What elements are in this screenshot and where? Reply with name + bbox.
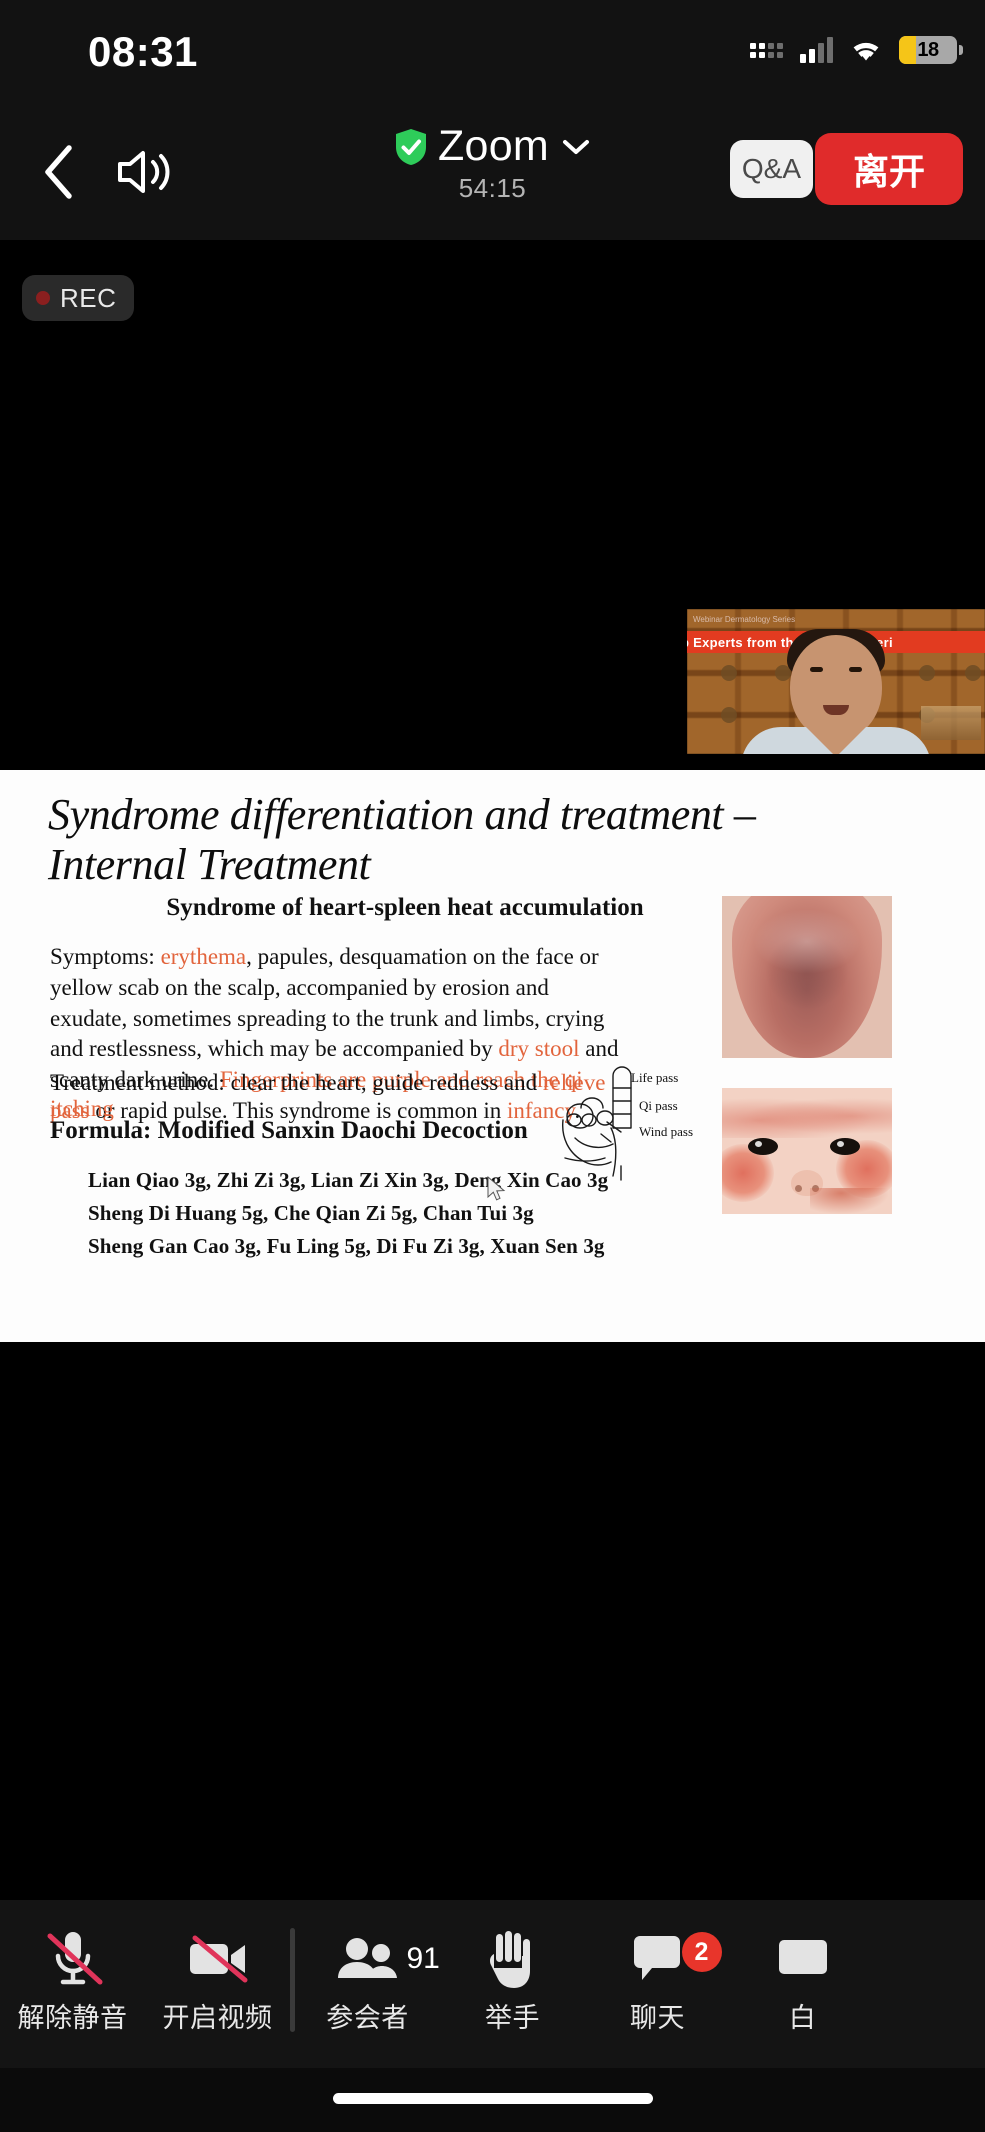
status-bar-clock: 08:31 [88,28,198,76]
status-bar: 08:31 18 [0,0,985,100]
participants-icon [335,1936,401,1982]
participants-button[interactable]: 91 参会者 [295,1900,440,2068]
video-off-icon [187,1936,249,1982]
shared-slide[interactable]: Syndrome differentiation and treatment –… [0,770,985,1342]
formula-title: Formula: Modified Sanxin Daochi Decoctio… [50,1117,528,1145]
speaker-on-icon [116,147,178,197]
pass-label: Wind pass [639,1124,693,1140]
whiteboard-button[interactable]: 白 [730,1900,875,2068]
home-indicator[interactable] [333,2093,653,2104]
body-text: Symptoms: [50,944,161,969]
speaker-head [790,635,882,741]
raised-hand-icon [486,1930,540,1988]
participants-label: 参会者 [326,1996,409,2035]
whiteboard-icon [775,1936,831,1982]
qa-button[interactable]: Q&A [730,140,813,198]
chevron-left-icon [41,144,75,200]
cellular-signal-icon [750,43,783,58]
highlighted-text: erythema [161,944,247,969]
unmute-button[interactable]: 解除静音 [0,1900,145,2068]
meeting-title: Zoom [438,122,549,171]
video-stage[interactable]: REC Webinar Dermatology Series p Experts… [0,240,985,1900]
chevron-down-icon[interactable] [561,137,591,157]
wifi-icon [849,37,883,63]
raise-hand-label: 举手 [485,1996,540,2035]
record-dot-icon [36,291,50,305]
slide-title: Syndrome differentiation and treatment –… [48,790,838,890]
whiteboard-label: 白 [789,1996,817,2035]
start-video-button[interactable]: 开启视频 [145,1900,290,2068]
leave-button-label: 离开 [853,143,925,195]
cellular-bars-icon [800,37,833,63]
speaker-button[interactable] [112,144,182,200]
chat-label: 聊天 [630,1996,685,2035]
pass-label: Qi pass [639,1098,678,1114]
self-view-banner-subtext: Webinar Dermatology Series [693,615,795,624]
speaker-eye-right [849,667,862,672]
raise-hand-button[interactable]: 举手 [440,1900,585,2068]
microphone-off-icon [48,1928,98,1990]
meeting-header: Zoom 54:15 Q&A 离开 [0,100,985,240]
speaker-eye-left [810,667,823,672]
verified-shield-icon [394,128,428,166]
recording-badge[interactable]: REC [22,275,134,321]
participants-count: 91 [407,1942,440,1976]
chat-button[interactable]: 2 聊天 [585,1900,730,2068]
herb-line: Sheng Gan Cao 3g, Fu Ling 5g, Di Fu Zi 3… [88,1234,605,1259]
chat-bubble-icon [630,1934,686,1984]
battery-icon: 18 [899,36,957,64]
thumbnail-corner-detail [921,706,981,740]
status-bar-indicators: 18 [750,36,957,64]
battery-level: 18 [917,39,938,62]
infant-face-photo [722,1088,892,1214]
body-text: Treatment method: clear the heart, guide… [50,1070,543,1095]
herb-line: Lian Qiao 3g, Zhi Zi 3g, Lian Zi Xin 3g,… [88,1168,608,1193]
meeting-toolbar: 解除静音 开启视频 [0,1900,985,2068]
meeting-timer: 54:15 [459,173,527,204]
qa-button-label: Q&A [742,153,801,185]
herb-line: Sheng Di Huang 5g, Che Qian Zi 5g, Chan … [88,1201,534,1226]
unmute-label: 解除静音 [18,1996,128,2035]
recording-label: REC [60,283,116,314]
pointing-hand-diagram: Life pass Qi pass Wind pass [555,1058,715,1186]
self-view-thumbnail[interactable]: Webinar Dermatology Series p Experts fro… [687,609,985,754]
chat-unread-badge: 2 [682,1932,722,1972]
start-video-label: 开启视频 [163,1996,273,2035]
zoom-meeting-screen: 08:31 18 [0,0,985,2132]
tongue-photo [722,896,892,1058]
leave-button[interactable]: 离开 [815,133,963,205]
pass-label: Life pass [631,1070,678,1086]
back-button[interactable] [30,144,86,200]
